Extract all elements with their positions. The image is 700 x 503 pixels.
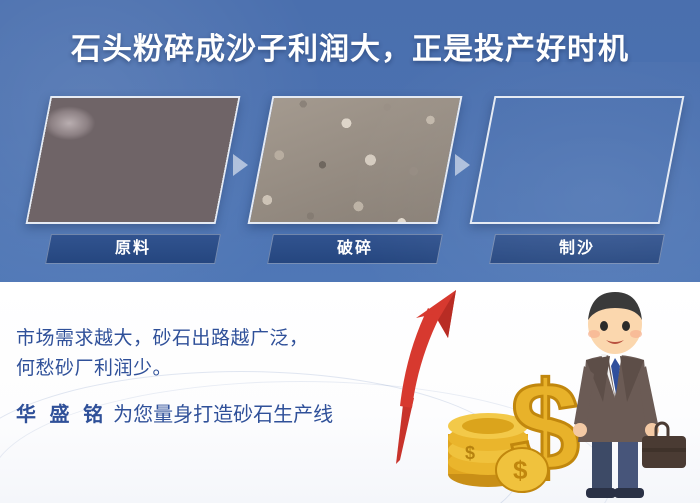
chevron-right-icon xyxy=(455,154,470,176)
dollar-small-icon: $ xyxy=(496,448,548,492)
growth-arrow-icon xyxy=(396,290,456,464)
svg-text:$: $ xyxy=(465,443,475,463)
businessman-illustration xyxy=(573,292,686,498)
process-step-2-label: 破碎 xyxy=(271,235,439,263)
bottom-section: 市场需求越大，砂石出路越广泛， 何愁砂厂利润少。 华 盛 铭 为您量身打造砂石生… xyxy=(0,282,700,503)
brand-line: 华 盛 铭 为您量身打造砂石生产线 xyxy=(16,400,376,430)
process-step-3-caption: 制沙 xyxy=(489,234,665,264)
brand-name: 华 盛 铭 xyxy=(16,400,107,430)
copy-line-1: 市场需求越大，砂石出路越广泛， xyxy=(16,324,376,354)
process-step-1-label: 原料 xyxy=(49,235,217,263)
brand-tagline: 为您量身打造砂石生产线 xyxy=(113,400,333,430)
process-strip: 原料 破碎 制沙 xyxy=(28,96,678,266)
crushed-gravel-photo xyxy=(248,96,463,224)
process-step-3-photo xyxy=(470,96,685,224)
poster-root: 石头粉碎成沙子利润大，正是投产好时机 原料 破碎 制沙 xyxy=(0,0,700,503)
manufactured-sand-photo xyxy=(470,96,685,224)
process-step-2-photo xyxy=(248,96,463,224)
process-step-2-caption: 破碎 xyxy=(267,234,443,264)
top-banner: 石头粉碎成沙子利润大，正是投产好时机 原料 破碎 制沙 xyxy=(0,0,700,282)
marketing-copy: 市场需求越大，砂石出路越广泛， 何愁砂厂利润少。 华 盛 铭 为您量身打造砂石生… xyxy=(16,324,376,430)
illustration-group: $ $ $ $ xyxy=(370,282,700,503)
process-step-1-photo xyxy=(26,96,241,224)
copy-line-2: 何愁砂厂利润少。 xyxy=(16,354,376,384)
process-step-3-label: 制沙 xyxy=(493,235,661,263)
page-title: 石头粉碎成沙子利润大，正是投产好时机 xyxy=(0,24,700,68)
process-step-1-caption: 原料 xyxy=(45,234,221,264)
svg-text:$: $ xyxy=(513,455,528,485)
chevron-right-icon xyxy=(233,154,248,176)
river-pebbles-photo xyxy=(26,96,241,224)
